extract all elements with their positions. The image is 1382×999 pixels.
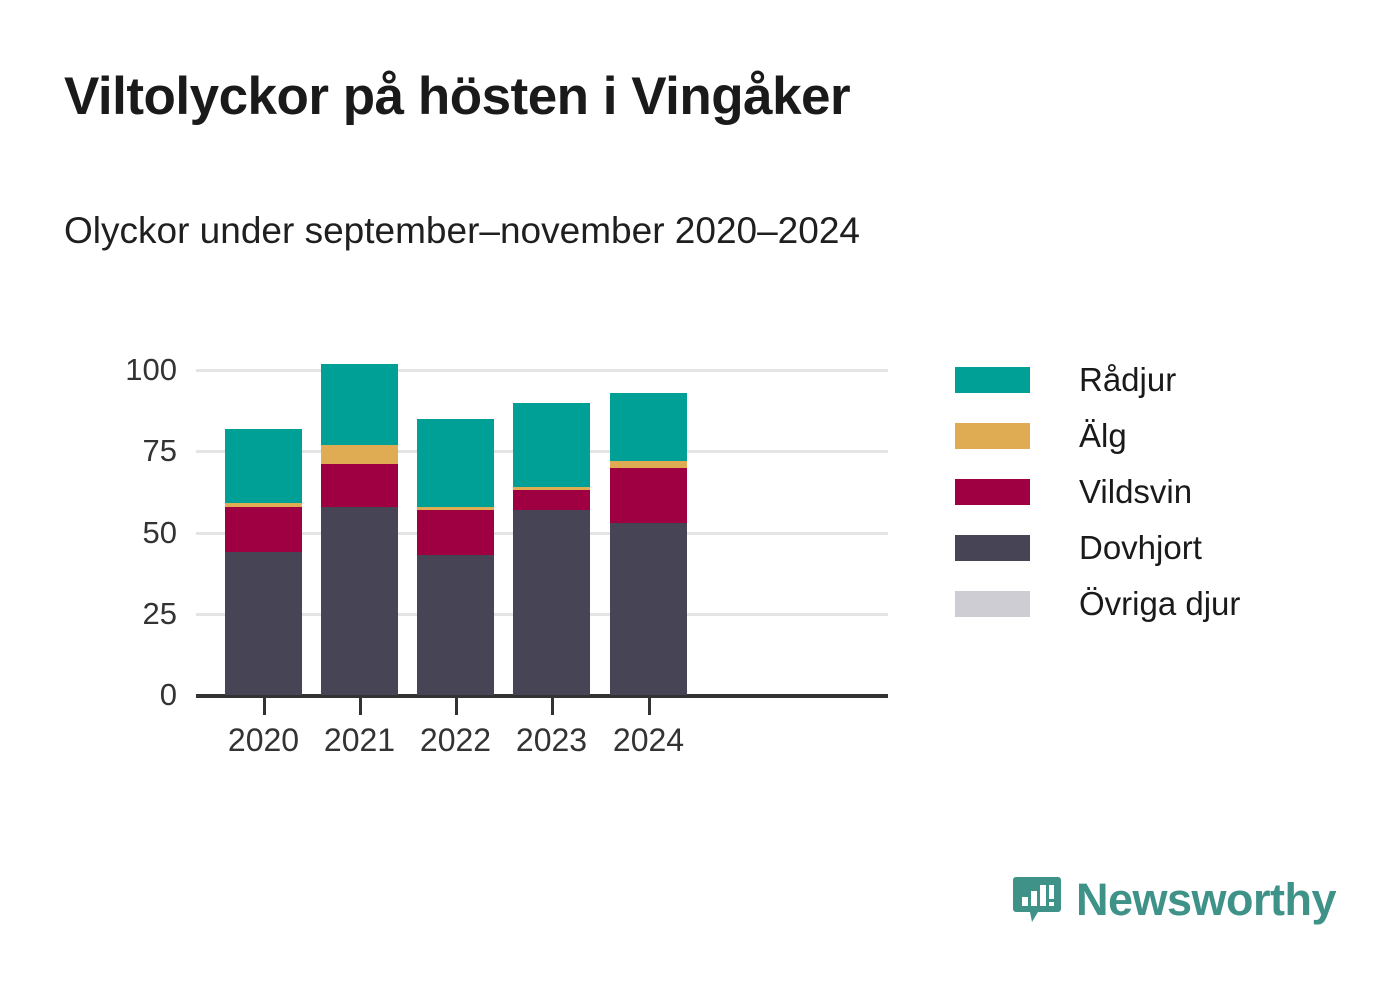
bar-segment-älg[interactable] bbox=[513, 487, 590, 490]
bar-segment-vildsvin[interactable] bbox=[417, 510, 494, 556]
legend-swatch bbox=[955, 591, 1030, 617]
bar-segment-rådjur[interactable] bbox=[417, 419, 494, 507]
bar-segment-vildsvin[interactable] bbox=[225, 507, 302, 553]
y-axis-tick-label: 100 bbox=[57, 352, 177, 388]
stacked-bar[interactable] bbox=[610, 370, 687, 695]
y-axis-tick-label: 0 bbox=[57, 677, 177, 713]
bar-segment-rådjur[interactable] bbox=[321, 364, 398, 445]
y-axis-tick-label: 25 bbox=[57, 596, 177, 632]
bar-segment-dovhjort[interactable] bbox=[321, 507, 398, 696]
bar-segment-dovhjort[interactable] bbox=[610, 523, 687, 695]
bar-segment-älg[interactable] bbox=[321, 445, 398, 465]
legend-swatch bbox=[955, 479, 1030, 505]
legend-swatch bbox=[955, 423, 1030, 449]
bar-segment-vildsvin[interactable] bbox=[321, 464, 398, 506]
bar-segment-dovhjort[interactable] bbox=[513, 510, 590, 695]
legend-item[interactable]: Vildsvin bbox=[955, 464, 1240, 520]
bar-segment-dovhjort[interactable] bbox=[417, 555, 494, 695]
legend-label: Övriga djur bbox=[1079, 585, 1240, 623]
newsworthy-logo: Newsworthy bbox=[1012, 874, 1336, 926]
x-axis-tick-mark bbox=[359, 698, 362, 715]
legend-label: Vildsvin bbox=[1079, 473, 1192, 511]
y-axis-tick-label: 75 bbox=[57, 433, 177, 469]
legend-swatch bbox=[955, 535, 1030, 561]
legend-item[interactable]: Övriga djur bbox=[955, 576, 1240, 632]
legend-item[interactable]: Rådjur bbox=[955, 352, 1240, 408]
stacked-bar[interactable] bbox=[513, 370, 590, 695]
x-axis-tick-mark bbox=[551, 698, 554, 715]
bar-segment-rådjur[interactable] bbox=[225, 429, 302, 504]
x-axis-tick-mark bbox=[455, 698, 458, 715]
bar-segment-rådjur[interactable] bbox=[610, 393, 687, 461]
legend: RådjurÄlgVildsvinDovhjortÖvriga djur bbox=[955, 352, 1240, 632]
bar-chart-speech-bubble-icon bbox=[1012, 875, 1062, 925]
bar-segment-dovhjort[interactable] bbox=[225, 552, 302, 695]
legend-item[interactable]: Dovhjort bbox=[955, 520, 1240, 576]
chart-page: Viltolyckor på hösten i Vingåker Olyckor… bbox=[0, 0, 1382, 999]
legend-item[interactable]: Älg bbox=[955, 408, 1240, 464]
legend-label: Rådjur bbox=[1079, 361, 1176, 399]
bar-segment-älg[interactable] bbox=[417, 507, 494, 510]
bar-segment-rådjur[interactable] bbox=[513, 403, 590, 488]
x-axis-tick-mark bbox=[263, 698, 266, 715]
logo-wordmark: Newsworthy bbox=[1076, 874, 1336, 926]
stacked-bar[interactable] bbox=[417, 370, 494, 695]
x-axis-tick-label: 2024 bbox=[579, 722, 719, 759]
stacked-bar[interactable] bbox=[321, 370, 398, 695]
stacked-bar[interactable] bbox=[225, 370, 302, 695]
bar-segment-vildsvin[interactable] bbox=[513, 490, 590, 510]
x-axis-tick-mark bbox=[648, 698, 651, 715]
bar-segment-älg[interactable] bbox=[610, 461, 687, 468]
legend-label: Dovhjort bbox=[1079, 529, 1202, 567]
legend-label: Älg bbox=[1079, 417, 1127, 455]
bar-segment-älg[interactable] bbox=[225, 503, 302, 506]
legend-swatch bbox=[955, 367, 1030, 393]
bar-segment-vildsvin[interactable] bbox=[610, 468, 687, 523]
y-axis-tick-label: 50 bbox=[57, 515, 177, 551]
